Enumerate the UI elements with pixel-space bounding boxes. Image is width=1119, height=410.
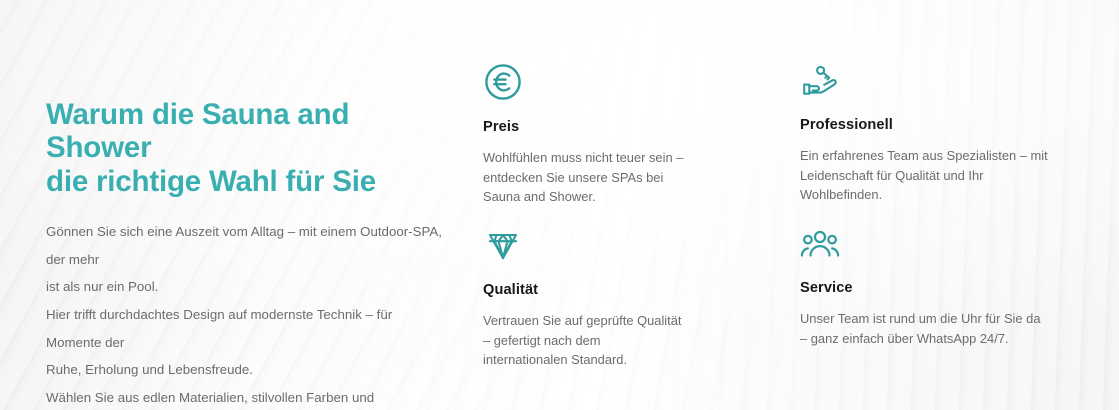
feature-description: Wohlfühlen muss nicht teuer sein – entde… bbox=[483, 148, 688, 207]
intro-paragraph-line: Hier trifft durchdachtes Design auf mode… bbox=[46, 301, 450, 356]
intro-paragraph-line: Ruhe, Erholung und Lebensfreude. bbox=[46, 356, 450, 384]
feature-item-professionell: Professionell Ein erfahrenes Team aus Sp… bbox=[800, 62, 1083, 225]
feature-description: Unser Team ist rund um die Uhr für Sie d… bbox=[800, 309, 1050, 348]
people-group-icon bbox=[800, 225, 840, 265]
feature-title: Preis bbox=[483, 119, 800, 135]
feature-title: Professionell bbox=[800, 117, 1083, 133]
feature-title: Service bbox=[800, 280, 1083, 296]
section-content: Warum die Sauna and Shower die richtige … bbox=[0, 0, 1119, 410]
intro-paragraph-line: ist als nur ein Pool. bbox=[46, 273, 450, 301]
page-title-line-2: die richtige Wahl für Sie bbox=[46, 165, 376, 198]
why-choose-us-section: Warum die Sauna and Shower die richtige … bbox=[0, 0, 1119, 410]
feature-item-qualitaet: Qualität Vertrauen Sie auf geprüfte Qual… bbox=[483, 225, 800, 370]
hand-key-icon bbox=[800, 62, 840, 102]
feature-description: Ein erfahrenes Team aus Spezialisten – m… bbox=[800, 146, 1050, 205]
intro-paragraph-line: Wählen Sie aus edlen Materialien, stilvo… bbox=[46, 384, 450, 410]
feature-item-preis: Preis Wohlfühlen muss nicht teuer sein –… bbox=[483, 62, 800, 225]
page-title: Warum die Sauna and Shower die richtige … bbox=[46, 98, 450, 198]
diamond-icon bbox=[483, 225, 523, 265]
feature-item-service: Service Unser Team ist rund um die Uhr f… bbox=[800, 225, 1083, 370]
feature-description: Vertrauen Sie auf geprüfte Qualität – ge… bbox=[483, 311, 688, 370]
feature-title: Qualität bbox=[483, 282, 800, 298]
page-title-line-1: Warum die Sauna and Shower bbox=[46, 98, 349, 164]
intro-block: Warum die Sauna and Shower die richtige … bbox=[46, 98, 450, 410]
intro-paragraph: Gönnen Sie sich eine Auszeit vom Alltag … bbox=[46, 218, 450, 410]
intro-paragraph-line: Gönnen Sie sich eine Auszeit vom Alltag … bbox=[46, 218, 450, 273]
euro-circle-icon bbox=[483, 62, 523, 102]
feature-grid: Preis Wohlfühlen muss nicht teuer sein –… bbox=[483, 62, 1083, 370]
